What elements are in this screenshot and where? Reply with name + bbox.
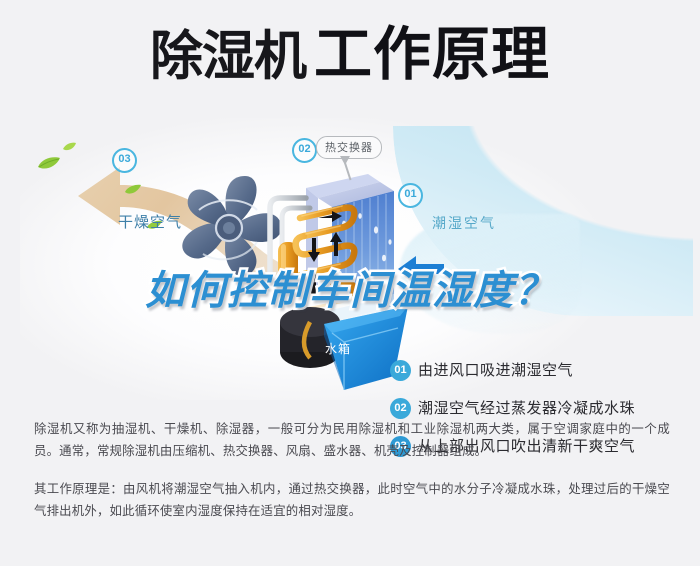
water-tank-label: 水箱 xyxy=(325,340,351,357)
step-badge-01: 01 xyxy=(390,360,411,381)
page-title: 除湿机工作原理 xyxy=(0,26,700,84)
dehumidifier-diagram: 03 干燥空气 02 热交换器 01 潮湿空气 水箱 01 由进风口吸进潮湿空气… xyxy=(0,118,700,400)
diagram-badge-02: 02 xyxy=(292,138,317,163)
diagram-badge-01: 01 xyxy=(398,183,423,208)
page-title-part2: 工作原理 xyxy=(314,22,550,87)
leaf-icon xyxy=(124,184,142,197)
step-badge-02: 02 xyxy=(390,398,411,419)
infographic-page: 除湿机工作原理 xyxy=(0,0,700,566)
body-paragraph-1: 除湿机又称为抽湿机、干燥机、除湿器，一般可分为民用除湿机和工业除湿机两大类，属于… xyxy=(34,418,670,462)
diagram-badge-03: 03 xyxy=(112,148,137,173)
step-text-02: 潮湿空气经过蒸发器冷凝成水珠 xyxy=(418,397,635,418)
leaf-icon xyxy=(36,156,62,172)
list-item: 01 由进风口吸进潮湿空气 xyxy=(390,356,690,394)
body-paragraph-2: 其工作原理是：由风机将潮湿空气抽入机内，通过热交换器，此时空气中的水分子冷凝成水… xyxy=(34,478,670,522)
dry-air-label: 干燥空气 xyxy=(118,211,182,232)
leaf-icon xyxy=(62,142,77,153)
step-text-01: 由进风口吸进潮湿空气 xyxy=(418,359,573,380)
humid-air-label: 潮湿空气 xyxy=(432,213,496,233)
page-title-part1: 除湿机 xyxy=(150,26,306,87)
body-copy: 除湿机又称为抽湿机、干燥机、除湿器，一般可分为民用除湿机和工业除湿机两大类，属于… xyxy=(34,418,670,522)
